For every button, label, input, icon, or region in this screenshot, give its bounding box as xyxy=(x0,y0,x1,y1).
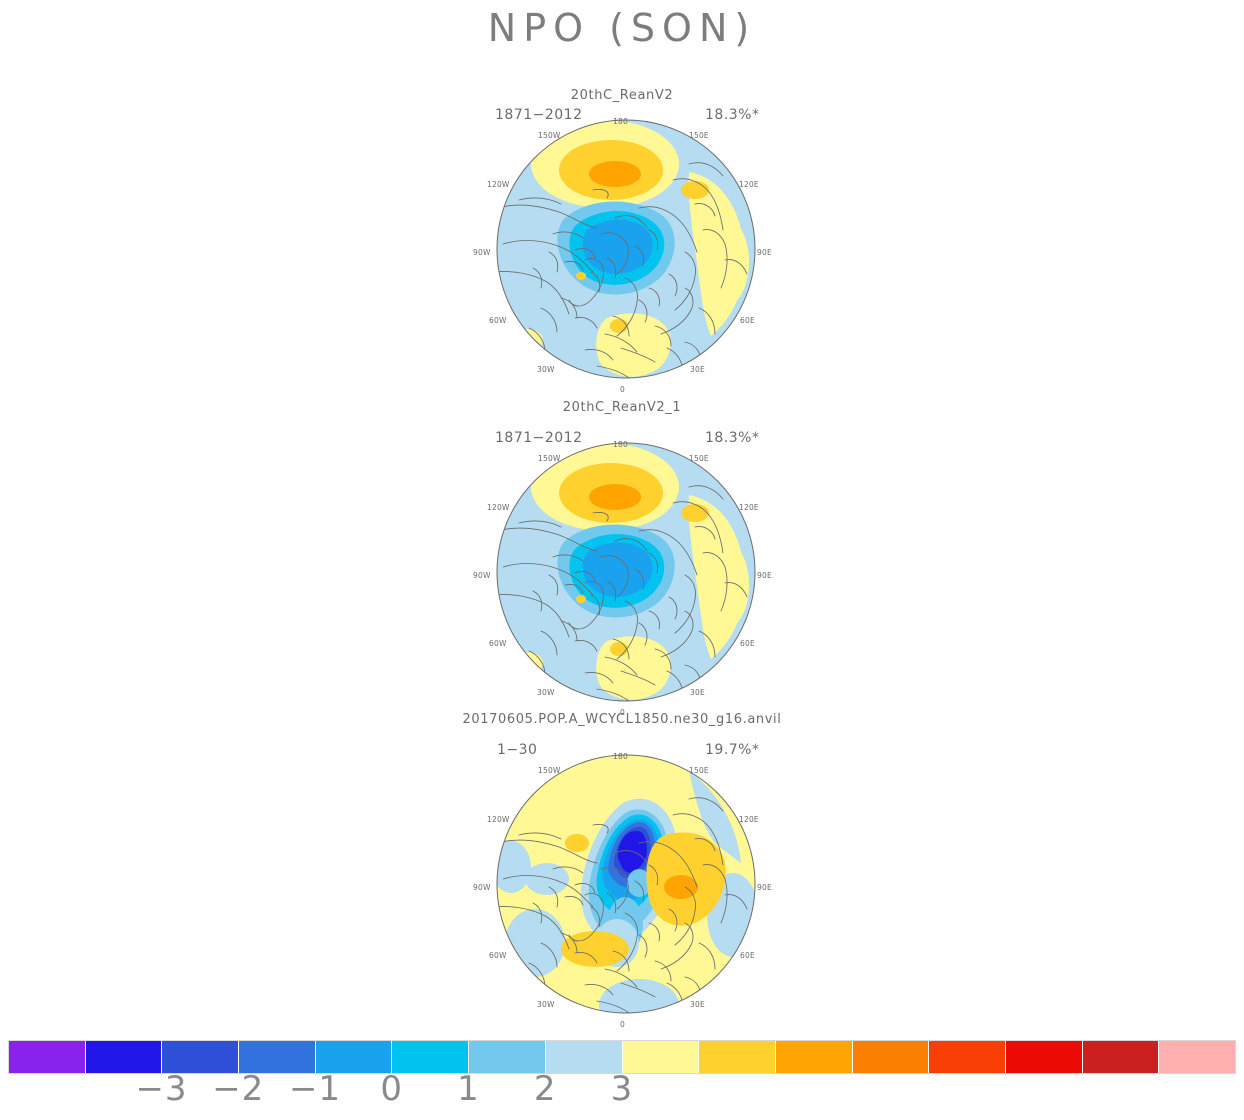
lon-label-90e: 90E xyxy=(757,571,772,580)
lon-label-150e: 150E xyxy=(689,454,709,463)
panel-title: 20170605.POP.A_WCYCL1850.ne30_g16.anvil xyxy=(0,712,1244,727)
lon-label-30e: 30E xyxy=(690,688,705,697)
colorbar-cell xyxy=(776,1041,853,1073)
colorbar-cell xyxy=(699,1041,776,1073)
figure-canvas: NPO (SON) 20thC_ReanV2 1871−2012 18.3%* xyxy=(0,0,1244,1120)
lon-label-90w: 90W xyxy=(473,571,491,580)
lon-label-150w: 150W xyxy=(538,454,561,463)
lon-label-150e: 150E xyxy=(689,766,709,775)
lon-label-30e: 30E xyxy=(690,1000,705,1009)
colorbar-tick: 0 xyxy=(380,1072,403,1106)
colorbar-tick: −3 xyxy=(135,1072,187,1106)
panel-20thc-reanv2: 20thC_ReanV2 1871−2012 18.3%* xyxy=(0,88,1244,388)
lon-label-150e: 150E xyxy=(689,131,709,140)
panel-20thc-reanv2-1: 20thC_ReanV2_1 1871−2012 18.3%* xyxy=(0,400,1244,700)
lon-label-30e: 30E xyxy=(690,365,705,374)
polar-stereographic-globe xyxy=(489,747,763,1021)
colorbar-cell xyxy=(623,1041,700,1073)
colorbar-cell xyxy=(1159,1041,1235,1073)
panel-title: 20thC_ReanV2_1 xyxy=(0,400,1244,415)
lon-label-60w: 60W xyxy=(489,951,507,960)
lon-label-180: 180 xyxy=(613,117,628,126)
panel-e3sm-anvil: 20170605.POP.A_WCYCL1850.ne30_g16.anvil … xyxy=(0,712,1244,1012)
lon-label-0: 0 xyxy=(620,385,625,394)
figure-title: NPO (SON) xyxy=(0,6,1244,50)
lon-label-150w: 150W xyxy=(538,766,561,775)
panel-title: 20thC_ReanV2 xyxy=(0,88,1244,103)
lon-label-120w: 120W xyxy=(487,180,510,189)
lon-label-60w: 60W xyxy=(489,316,507,325)
colorbar-tick: −2 xyxy=(212,1072,264,1106)
colorbar-tick: −1 xyxy=(289,1072,341,1106)
lon-label-150w: 150W xyxy=(538,131,561,140)
polar-map-1 xyxy=(489,112,763,386)
colorbar-tick: 1 xyxy=(457,1072,480,1106)
lon-label-180: 180 xyxy=(613,752,628,761)
colorbar-cell xyxy=(9,1041,86,1073)
lon-label-120e: 120E xyxy=(739,503,759,512)
colorbar-tick-labels: −3−2−10123 xyxy=(8,1072,1236,1120)
lon-label-30w: 30W xyxy=(537,1000,555,1009)
lon-label-30w: 30W xyxy=(537,365,555,374)
lon-label-90w: 90W xyxy=(473,248,491,257)
colorbar-cell xyxy=(1083,1041,1160,1073)
polar-map-2 xyxy=(489,435,763,709)
colorbar-cell xyxy=(929,1041,1006,1073)
lon-label-60e: 60E xyxy=(740,639,755,648)
polar-stereographic-globe xyxy=(489,112,763,386)
lon-label-90w: 90W xyxy=(473,883,491,892)
lon-label-90e: 90E xyxy=(757,883,772,892)
colorbar-cell xyxy=(1006,1041,1083,1073)
polar-map-3 xyxy=(489,747,763,1021)
lon-label-60e: 60E xyxy=(740,316,755,325)
colorbar-cell xyxy=(853,1041,930,1073)
colorbar-tick: 3 xyxy=(611,1072,634,1106)
lon-label-180: 180 xyxy=(613,440,628,449)
lon-label-120e: 120E xyxy=(739,815,759,824)
lon-label-0: 0 xyxy=(620,1020,625,1029)
colorbar-tick: 2 xyxy=(534,1072,557,1106)
polar-stereographic-globe xyxy=(489,435,763,709)
lon-label-120w: 120W xyxy=(487,815,510,824)
lon-label-120w: 120W xyxy=(487,503,510,512)
lon-label-90e: 90E xyxy=(757,248,772,257)
lon-label-30w: 30W xyxy=(537,688,555,697)
lon-label-60e: 60E xyxy=(740,951,755,960)
lon-label-60w: 60W xyxy=(489,639,507,648)
lon-label-120e: 120E xyxy=(739,180,759,189)
